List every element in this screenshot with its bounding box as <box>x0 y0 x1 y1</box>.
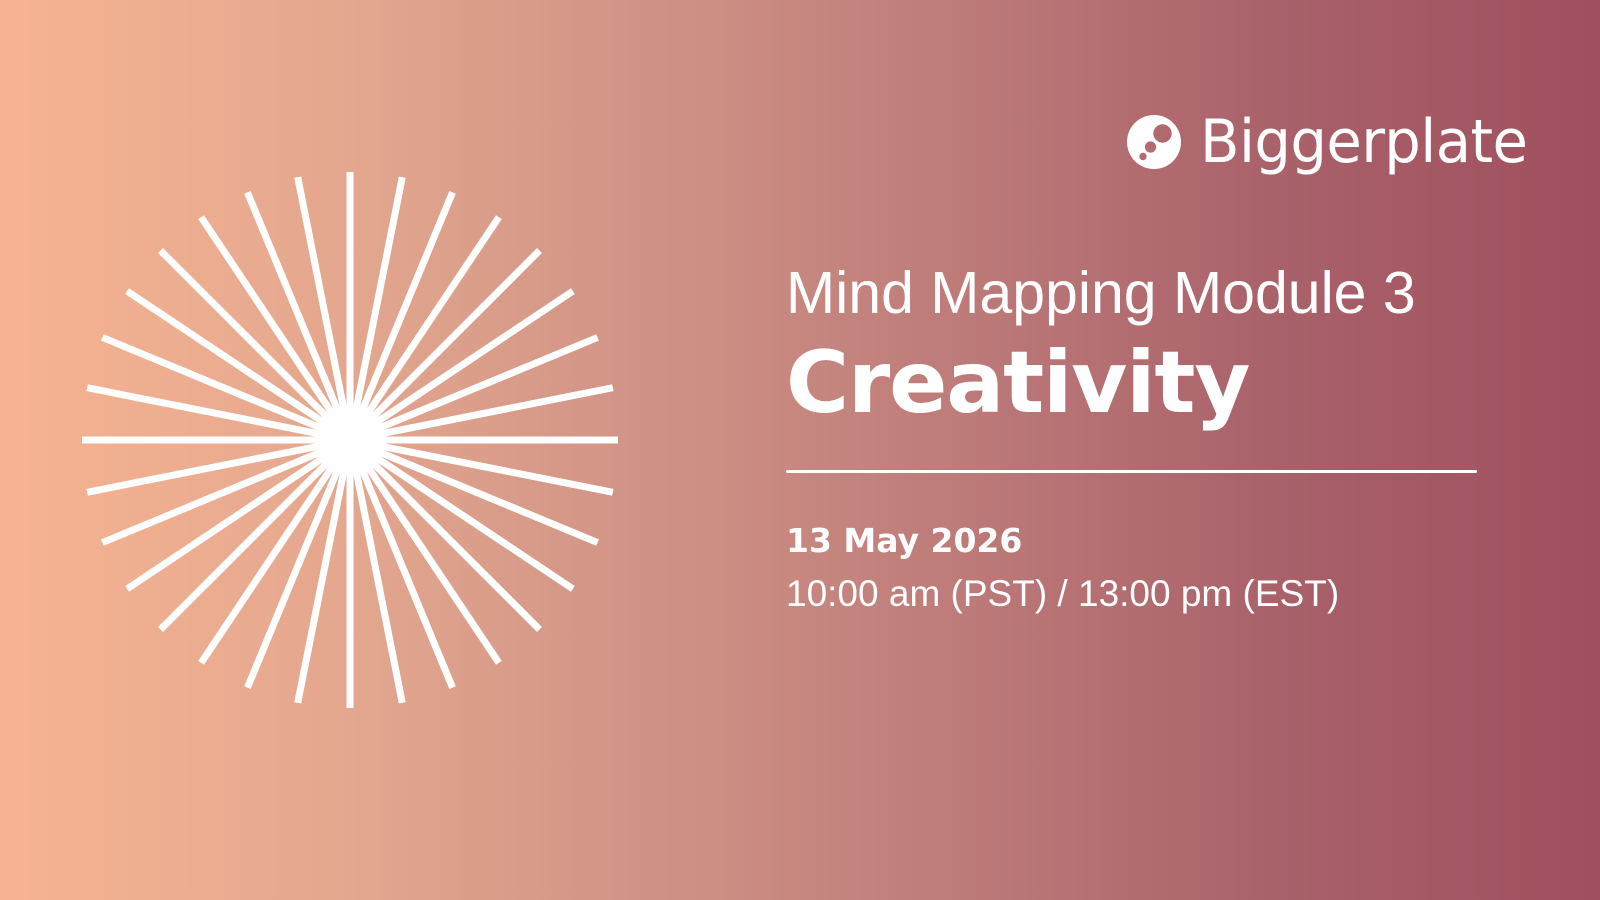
brand-logo-lockup[interactable]: Biggerplate <box>1126 112 1541 172</box>
page-title: Creativity <box>786 339 1486 428</box>
starburst-ray <box>298 462 346 703</box>
starburst-ray <box>298 177 346 418</box>
module-eyebrow: Mind Mapping Module 3 <box>786 262 1486 325</box>
divider <box>786 470 1477 473</box>
starburst-ray <box>372 388 613 436</box>
event-time: 10:00 am (PST) / 13:00 pm (EST) <box>786 572 1486 616</box>
webinar-promo-banner: Biggerplate Mind Mapping Module 3 Creati… <box>0 0 1600 900</box>
schedule-block: 13 May 2026 10:00 am (PST) / 13:00 pm (E… <box>786 521 1486 616</box>
starburst-ray <box>87 388 328 436</box>
starburst-ray <box>354 177 402 418</box>
starburst-ray <box>354 462 402 703</box>
event-date: 13 May 2026 <box>786 521 1486 561</box>
brand-wordmark: Biggerplate <box>1200 112 1527 172</box>
biggerplate-bubbles-logo-icon <box>1126 114 1182 170</box>
starburst-graphic <box>80 170 620 710</box>
starburst-ray <box>372 444 613 492</box>
starburst-ray <box>87 444 328 492</box>
event-text-column: Mind Mapping Module 3 Creativity 13 May … <box>786 262 1486 616</box>
